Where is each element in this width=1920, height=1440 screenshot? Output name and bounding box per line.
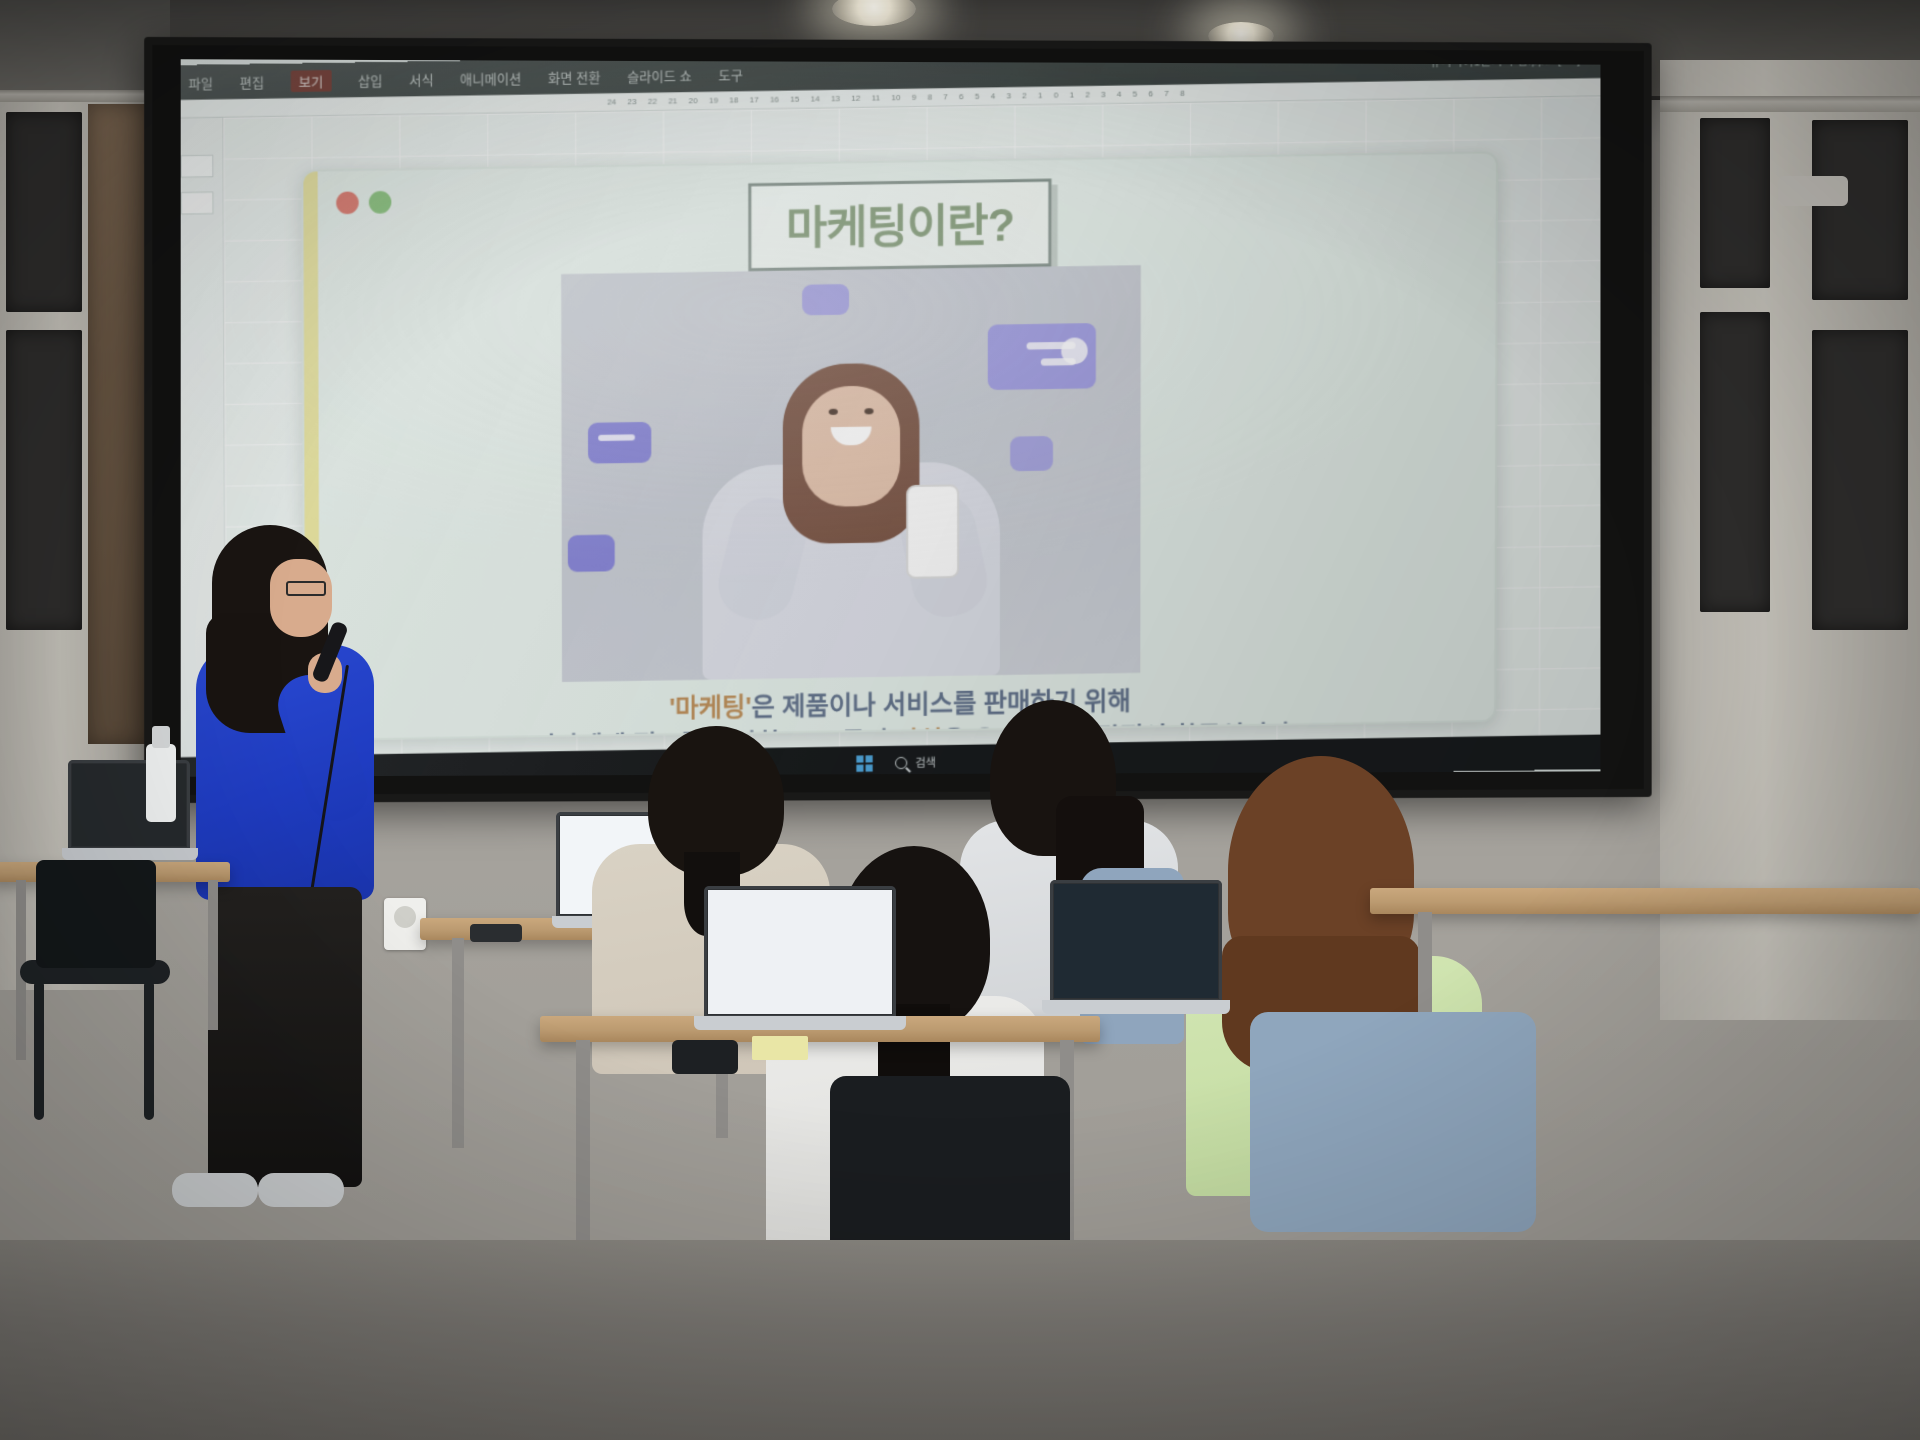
ruler-tick: 1 [1038,91,1043,100]
chat-bubble-icon [588,422,651,464]
wall-rail-right [1660,96,1920,112]
ruler-tick: 12 [851,94,860,103]
laptop-lid [1050,880,1222,1002]
taskbar-search[interactable]: 검색 [895,754,936,771]
taskbar-search-label: 검색 [915,754,936,771]
chair-leg [34,980,44,1120]
sticky-note [752,1036,808,1060]
ruler-tick: 8 [927,92,932,101]
clock-bubble-icon [1010,436,1053,471]
acoustic-panel-right-1 [1700,118,1770,288]
menu-item-transition[interactable]: 화면 전환 [548,66,601,86]
acoustic-panel-left-1 [6,112,82,312]
acoustic-panel-right-4 [1812,330,1908,630]
ruler-tick: 4 [1117,90,1122,99]
menu-item-slideshow[interactable]: 슬라이드 쇼 [627,65,692,85]
menu-item-format[interactable]: 서식 [409,69,434,89]
desk-leg [452,938,464,1148]
ruler-tick: 3 [1101,90,1106,99]
side-table-leg [208,880,218,1030]
presenter-trousers [208,887,362,1187]
chat-bubble-lines [598,434,635,441]
desk-row-right [1370,888,1920,914]
ruler-tick: 15 [790,95,799,104]
ruler-tick: 5 [975,92,980,101]
presenter [196,525,386,1165]
acoustic-panel-right-2 [1700,312,1770,612]
ruler-tick: 21 [668,96,677,105]
ruler-tick: 14 [811,94,820,103]
ruler-tick: 22 [648,97,657,106]
window-maximize-dot[interactable] [369,191,392,214]
ruler-tick: 16 [770,95,779,104]
laptop-screen [1054,884,1218,998]
student-laptop-3[interactable] [1046,880,1226,1020]
chair-back-right [1250,1012,1536,1232]
heart-bubble-icon [568,535,615,572]
face [802,385,900,507]
projected-desktop: 파일 편집 보기 삽입 서식 애니메이션 화면 전환 슬라이드 쇼 도구 뉴미디… [181,59,1601,777]
phone-on-desk [470,924,522,942]
windows-start-icon[interactable] [856,755,872,772]
ruler-tick: 7 [943,92,948,101]
ruler-tick: 0 [1054,91,1059,100]
ruler-tick: 18 [729,95,738,104]
floor [0,1240,1920,1440]
slide-thumbnail[interactable] [181,192,214,215]
menu-item-edit[interactable]: 편집 [239,71,264,91]
presenter-sandal [172,1173,258,1207]
chair-back-front-left [36,860,156,968]
hand-sanitizer-pump [152,726,170,748]
ruler-tick: 10 [891,93,900,102]
menu-item-file[interactable]: 파일 [188,72,213,92]
ruler-tick: 9 [912,93,917,102]
laptop-base [694,1016,906,1030]
desk-leg [576,1040,590,1250]
lecture-room-photo: 파일 편집 보기 삽입 서식 애니메이션 화면 전환 슬라이드 쇼 도구 뉴미디… [0,0,1920,1440]
slide-thumbnail[interactable] [181,155,214,178]
ruler-tick: 19 [709,96,718,105]
laptop-base [1042,1000,1230,1014]
photo-person [698,339,1004,680]
page-title: 마케팅이란? [786,188,1014,257]
chair-back-center [830,1076,1070,1256]
ruler-tick: 13 [831,94,840,103]
dots-bubble-icon [802,284,849,315]
presenter-face [270,559,332,637]
ruler-tick: 20 [689,96,698,105]
menu-item-tools[interactable]: 도구 [718,64,742,84]
caption-highlight: '마케팅' [669,693,751,723]
wood-panel-left [88,104,146,744]
speaker-ceiling [1778,176,1848,206]
acoustic-panel-left-2 [6,330,82,630]
acoustic-panel-right-3 [1812,120,1908,300]
menu-item-view[interactable]: 보기 [291,69,332,91]
presenter-sandal [258,1173,344,1207]
search-icon [895,757,907,769]
ruler-tick: 6 [959,92,964,101]
wall-outlet-socket [394,906,416,928]
ruler-tick: 6 [1148,89,1153,98]
ruler-tick: 24 [607,97,616,106]
ruler-tick: 3 [1006,91,1011,100]
ruler-tick: 5 [1133,89,1138,98]
ruler-tick: 8 [1180,89,1185,98]
hand-sanitizer [146,744,176,822]
student-laptop-2[interactable] [700,886,900,1036]
ruler-tick: 23 [628,97,637,106]
window-close-dot[interactable] [336,191,359,214]
slide-window: 마케팅이란? [301,151,1498,741]
slide-photo [561,265,1141,682]
ruler-tick: 4 [991,91,996,100]
ruler-tick: 2 [1085,90,1090,99]
ruler-tick: 1 [1070,90,1075,99]
menu-item-animation[interactable]: 애니메이션 [460,68,521,88]
laptop-lid [704,886,896,1018]
ruler-tick: 2 [1022,91,1027,100]
wall-slat-left-1 [0,90,150,102]
ruler-tick: 17 [750,95,759,104]
smartphone-prop [906,484,959,579]
slide-title-box: 마케팅이란? [748,179,1052,272]
presenter-glasses [286,581,326,596]
phone-on-desk-2 [672,1040,738,1074]
laptop-base [62,848,198,860]
laptop-screen [708,890,892,1014]
chair-leg [144,980,154,1120]
menu-item-insert[interactable]: 삽입 [358,70,383,90]
ruler-tick: 7 [1164,89,1169,98]
ruler-tick: 11 [872,93,880,102]
